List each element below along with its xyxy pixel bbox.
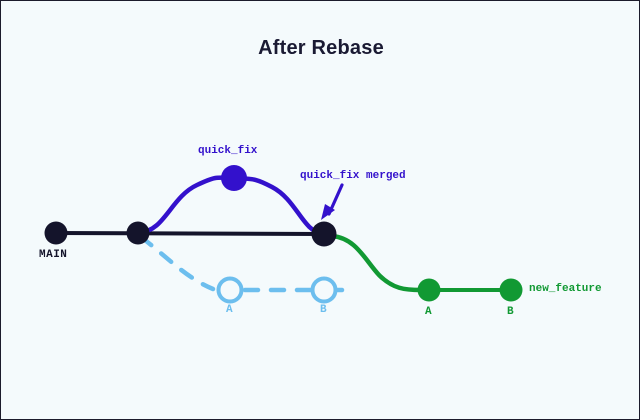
quick-fix-commit-node bbox=[221, 165, 247, 191]
new-feature-commit-node-a bbox=[418, 279, 441, 302]
new-feature-branch-path bbox=[332, 236, 421, 290]
ghost-commit-label-b: B bbox=[320, 304, 327, 316]
quick-fix-merged-annotation: quick_fix merged bbox=[300, 170, 406, 182]
main-branch-label: MAIN bbox=[39, 249, 67, 261]
new-feature-branch-label: new_feature bbox=[529, 283, 602, 295]
ghost-branch-path bbox=[141, 237, 213, 289]
main-merge-commit-node bbox=[312, 222, 337, 247]
ghost-commit-node-a bbox=[219, 279, 242, 302]
new-feature-commit-label-a: A bbox=[425, 306, 432, 318]
main-commit-node-1 bbox=[45, 222, 68, 245]
new-feature-commit-node-b bbox=[500, 279, 523, 302]
ghost-commit-node-b bbox=[313, 279, 336, 302]
new-feature-commit-label-b: B bbox=[507, 306, 514, 318]
main-branch-line bbox=[56, 233, 324, 234]
ghost-commit-label-a: A bbox=[226, 304, 233, 316]
quick-fix-branch-label: quick_fix bbox=[198, 145, 257, 157]
diagram-canvas: After Rebase quick_fix quick_fix m bbox=[0, 0, 640, 420]
git-branch-graphic bbox=[1, 1, 640, 420]
merge-annotation-arrow-icon bbox=[321, 185, 342, 220]
main-commit-node-2 bbox=[127, 222, 150, 245]
